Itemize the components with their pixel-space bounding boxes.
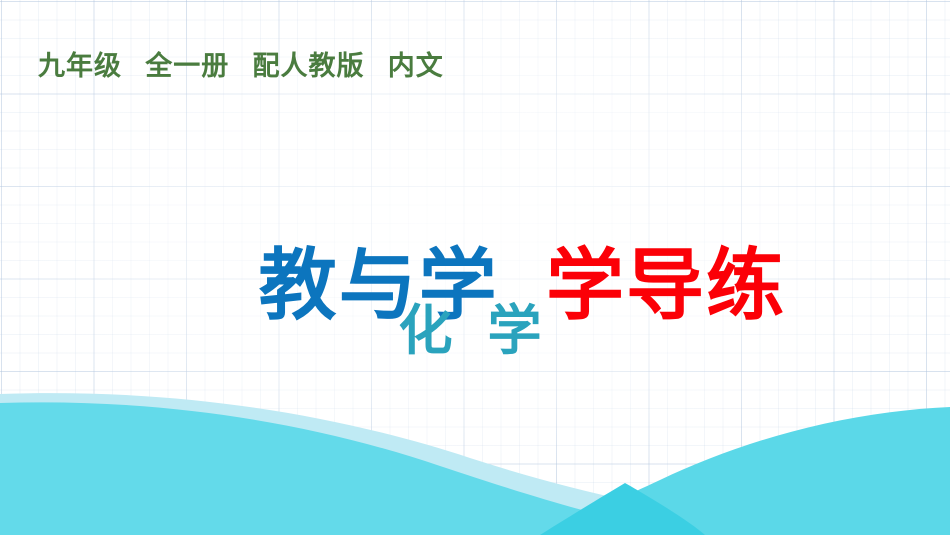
subject-title: 化 学	[0, 286, 950, 365]
slide-canvas: 九年级 全一册 配人教版 内文 教与学 学导练 化 学	[0, 0, 950, 535]
edition-line: 九年级 全一册 配人教版 内文	[38, 44, 444, 83]
